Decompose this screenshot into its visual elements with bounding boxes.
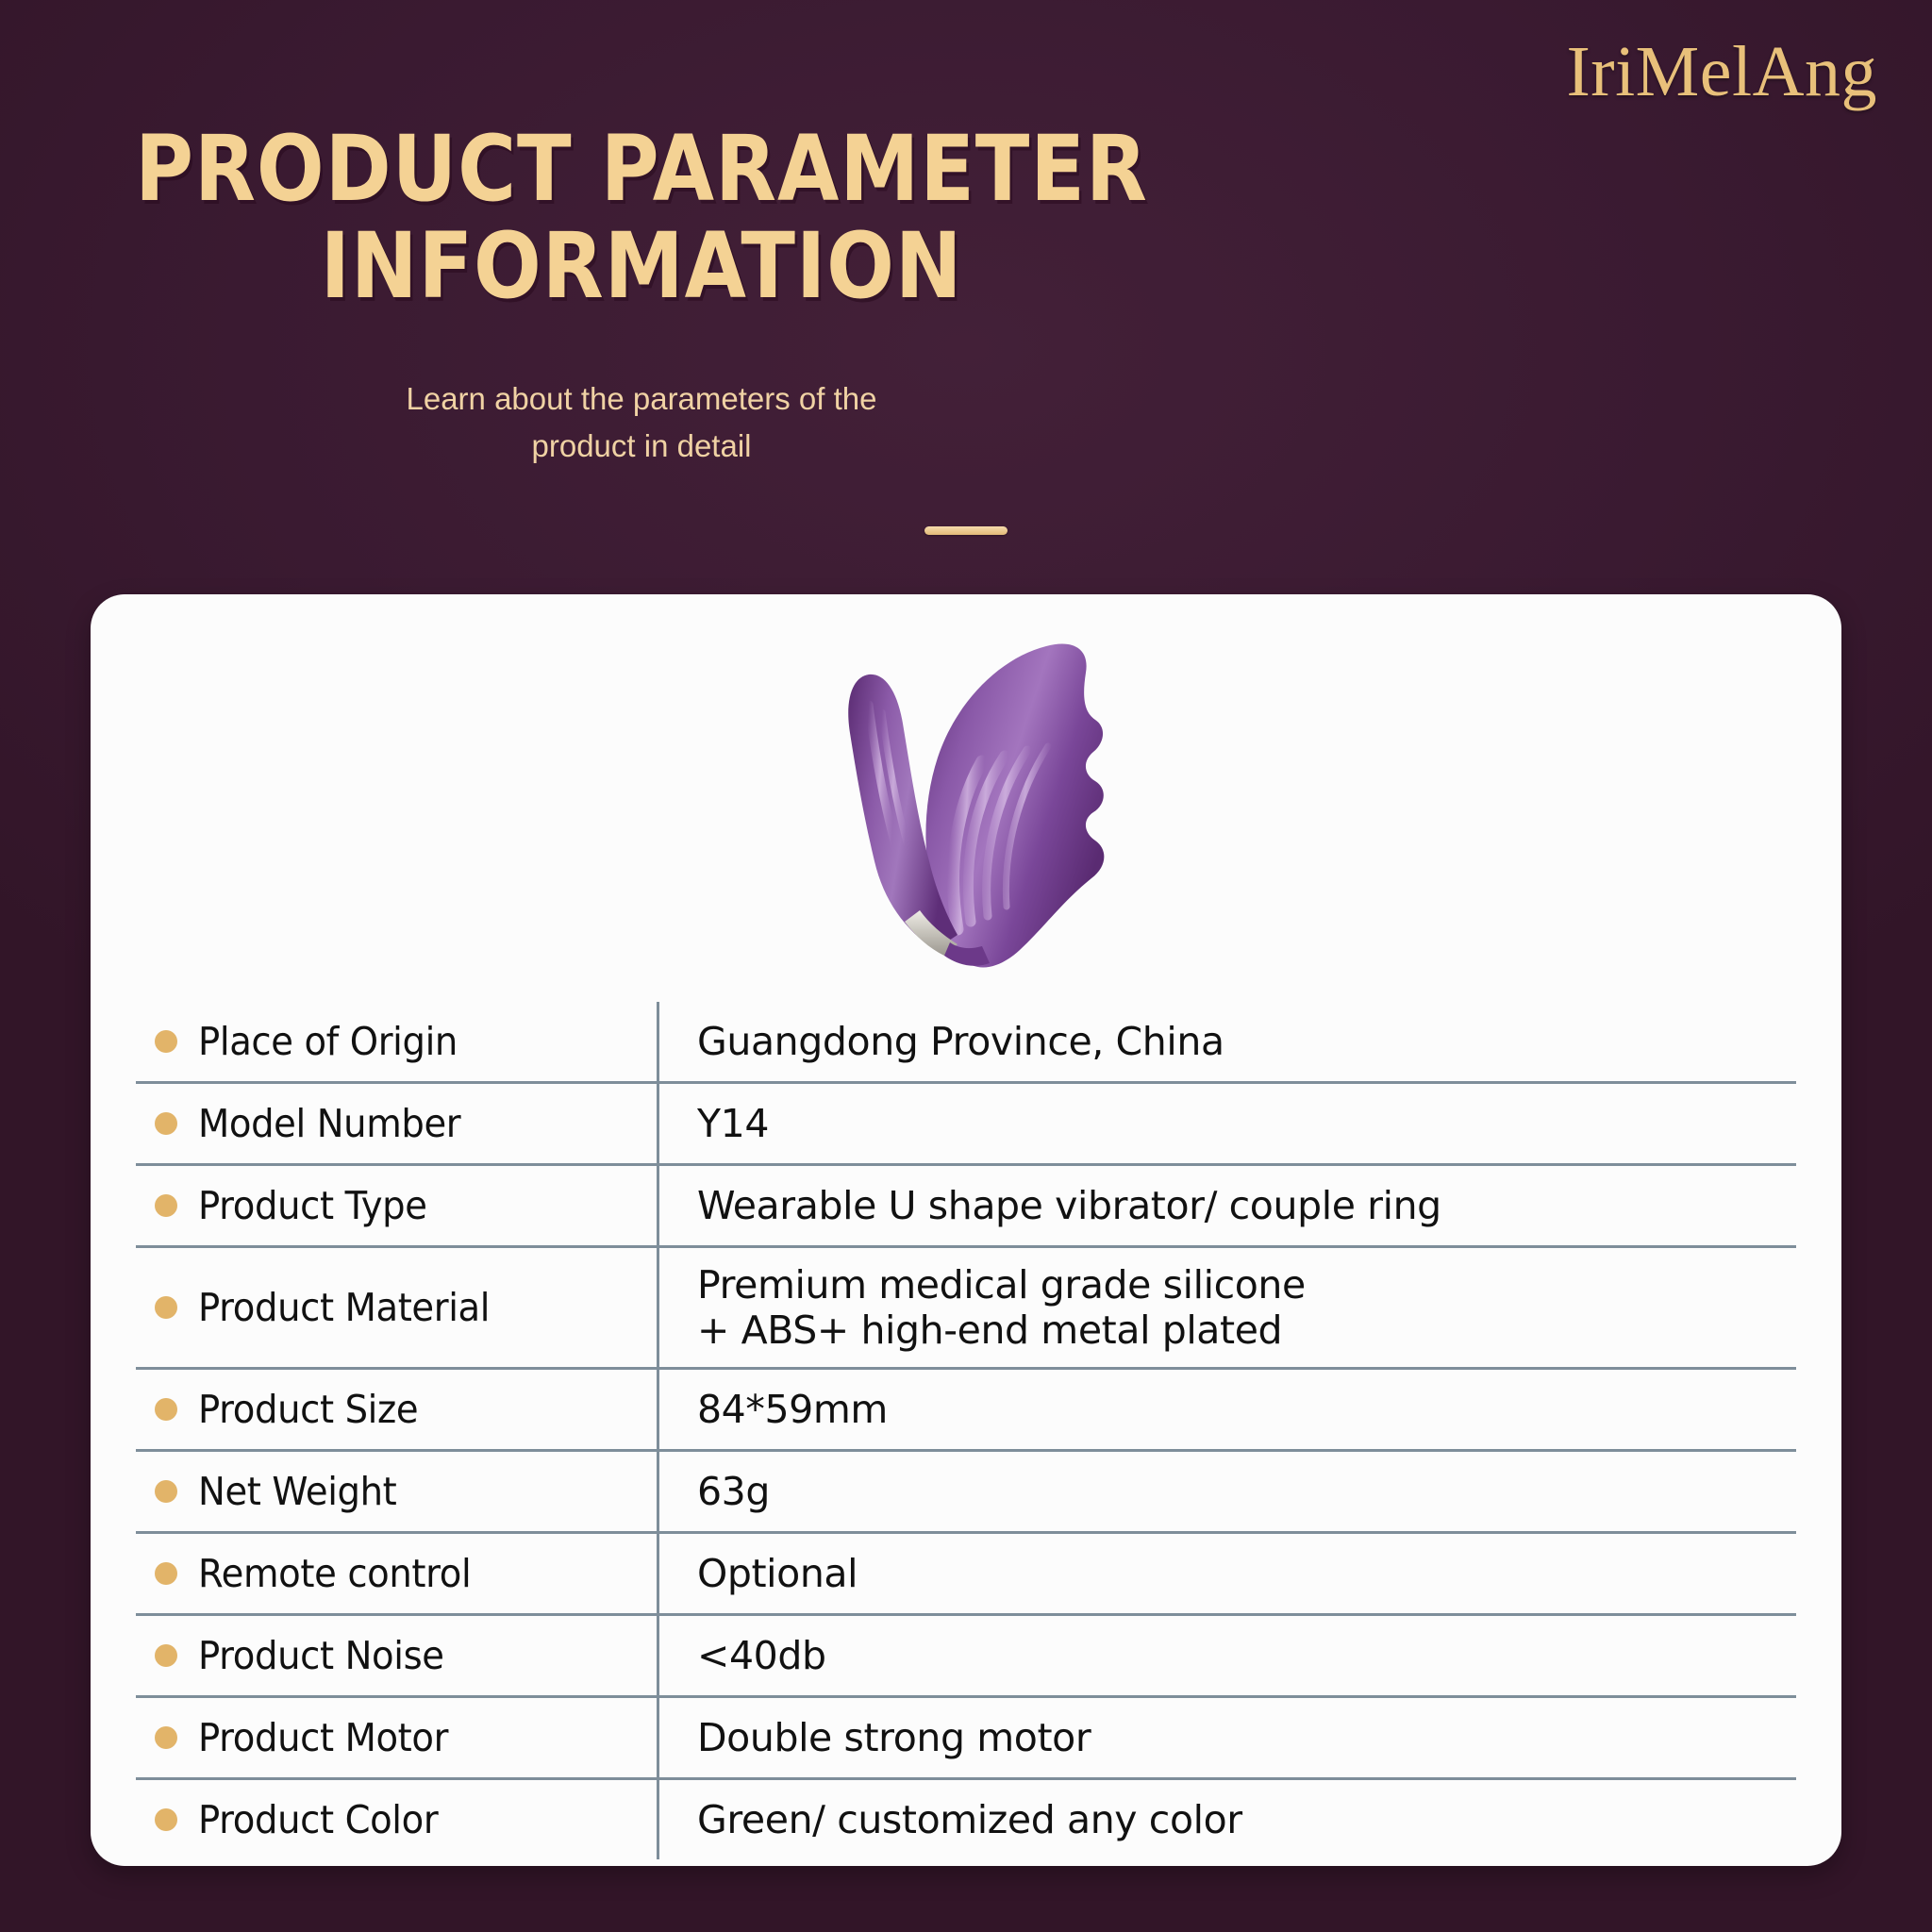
spec-label: Product Noise [198,1633,444,1678]
bullet-icon [155,1398,177,1421]
table-row: Place of Origin Guangdong Province, Chin… [136,1002,1796,1083]
spec-label: Net Weight [198,1469,396,1514]
spec-label: Product Size [198,1387,418,1432]
page-title-line-2: INFORMATION [77,218,1207,315]
product-parameter-page: IriMelAng PRODUCT PARAMETER INFORMATION … [0,0,1932,1932]
spec-value-cell: Guangdong Province, China [658,1002,1797,1083]
spec-value: Premium medical grade silicone + ABS+ hi… [697,1262,1306,1353]
spec-label-cell: Product Type [136,1165,658,1247]
spec-value-cell: Optional [658,1533,1797,1615]
spec-label-cell: Remote control [136,1533,658,1615]
spec-value: 63g [697,1469,770,1514]
spec-value: Y14 [697,1101,769,1146]
spec-label-cell: Product Color [136,1779,658,1860]
spec-label-cell: Product Noise [136,1615,658,1697]
product-image [91,613,1841,991]
spec-label: Product Material [198,1285,490,1330]
table-row: Product Type Wearable U shape vibrator/ … [136,1165,1796,1247]
spec-label: Product Color [198,1797,438,1842]
table-row: Product Color Green/ customized any colo… [136,1779,1796,1860]
table-row: Net Weight 63g [136,1451,1796,1533]
title-divider [924,526,1008,535]
spec-value: Guangdong Province, China [697,1019,1224,1064]
bullet-icon [155,1726,177,1749]
brand-logo: IriMelAng [1566,36,1877,108]
spec-value-cell: Wearable U shape vibrator/ couple ring [658,1165,1797,1247]
spec-value: Green/ customized any color [697,1797,1242,1842]
spec-value-cell: Double strong motor [658,1697,1797,1779]
spec-table: Place of Origin Guangdong Province, Chin… [136,1002,1796,1859]
spec-value: Wearable U shape vibrator/ couple ring [697,1183,1441,1228]
table-row: Product Size 84*59mm [136,1369,1796,1451]
bullet-icon [155,1562,177,1585]
spec-value: 84*59mm [697,1387,888,1432]
page-subtitle-line-1: Learn about the parameters of the [0,375,1283,423]
spec-value-cell: <40db [658,1615,1797,1697]
bullet-icon [155,1644,177,1667]
spec-label-cell: Product Size [136,1369,658,1451]
page-title-line-1: PRODUCT PARAMETER [77,121,1207,218]
bullet-icon [155,1808,177,1831]
spec-value: Optional [697,1551,858,1596]
bullet-icon [155,1030,177,1053]
spec-value: <40db [697,1633,826,1678]
spec-label-cell: Place of Origin [136,1002,658,1083]
page-subtitle-line-2: product in detail [0,423,1283,470]
spec-card: Place of Origin Guangdong Province, Chin… [91,594,1841,1866]
spec-label-cell: Product Motor [136,1697,658,1779]
spec-value-cell: Premium medical grade silicone + ABS+ hi… [658,1247,1797,1369]
table-row: Model Number Y14 [136,1083,1796,1165]
table-row: Product Material Premium medical grade s… [136,1247,1796,1369]
spec-label: Remote control [198,1551,471,1596]
page-title: PRODUCT PARAMETER INFORMATION [77,121,1207,314]
spec-label-cell: Model Number [136,1083,658,1165]
spec-value-cell: 84*59mm [658,1369,1797,1451]
spec-label: Product Type [198,1183,427,1228]
spec-label-cell: Net Weight [136,1451,658,1533]
spec-value-cell: Green/ customized any color [658,1779,1797,1860]
bullet-icon [155,1194,177,1217]
table-row: Product Motor Double strong motor [136,1697,1796,1779]
spec-value-cell: Y14 [658,1083,1797,1165]
bullet-icon [155,1112,177,1135]
spec-label: Product Motor [198,1715,448,1760]
bullet-icon [155,1480,177,1503]
spec-label: Place of Origin [198,1019,458,1064]
spec-value: Double strong motor [697,1715,1091,1760]
page-subtitle: Learn about the parameters of the produc… [0,375,1283,469]
spec-value-cell: 63g [658,1451,1797,1533]
bullet-icon [155,1296,177,1319]
table-row: Remote control Optional [136,1533,1796,1615]
spec-label: Model Number [198,1101,460,1146]
spec-label-cell: Product Material [136,1247,658,1369]
table-row: Product Noise <40db [136,1615,1796,1697]
